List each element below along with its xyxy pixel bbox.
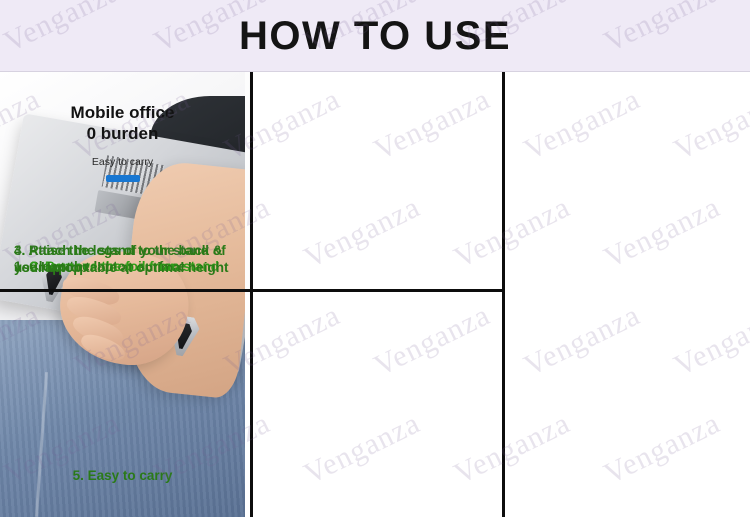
vertical-divider-1: [250, 72, 253, 517]
step-4-caption: 4. Raise the legs of your stand & use la…: [0, 242, 249, 276]
steps-grid: 1. Clean the laptop surface 2. Remove th…: [0, 72, 750, 517]
header-bar: HOW TO USE: [0, 0, 750, 72]
header-underline: [0, 71, 750, 72]
overlay-headline-line1: Mobile office: [0, 102, 245, 123]
page-title: HOW TO USE: [239, 14, 511, 59]
vertical-divider-2: [502, 72, 505, 517]
accent-bar: [106, 175, 140, 182]
step-panel-5: Mobile office 0 burden Easy to carry 5. …: [0, 72, 245, 517]
overlay-headline-line2: 0 burden: [0, 123, 245, 144]
step-5-caption: 5. Easy to carry: [0, 467, 245, 484]
how-to-use-infographic: HOW TO USE 1. Clean the laptop surface: [0, 0, 750, 517]
overlay-subtext: Easy to carry: [0, 156, 245, 168]
horizontal-divider: [0, 289, 502, 292]
step-5-overlay: Mobile office 0 burden Easy to carry: [0, 102, 245, 182]
